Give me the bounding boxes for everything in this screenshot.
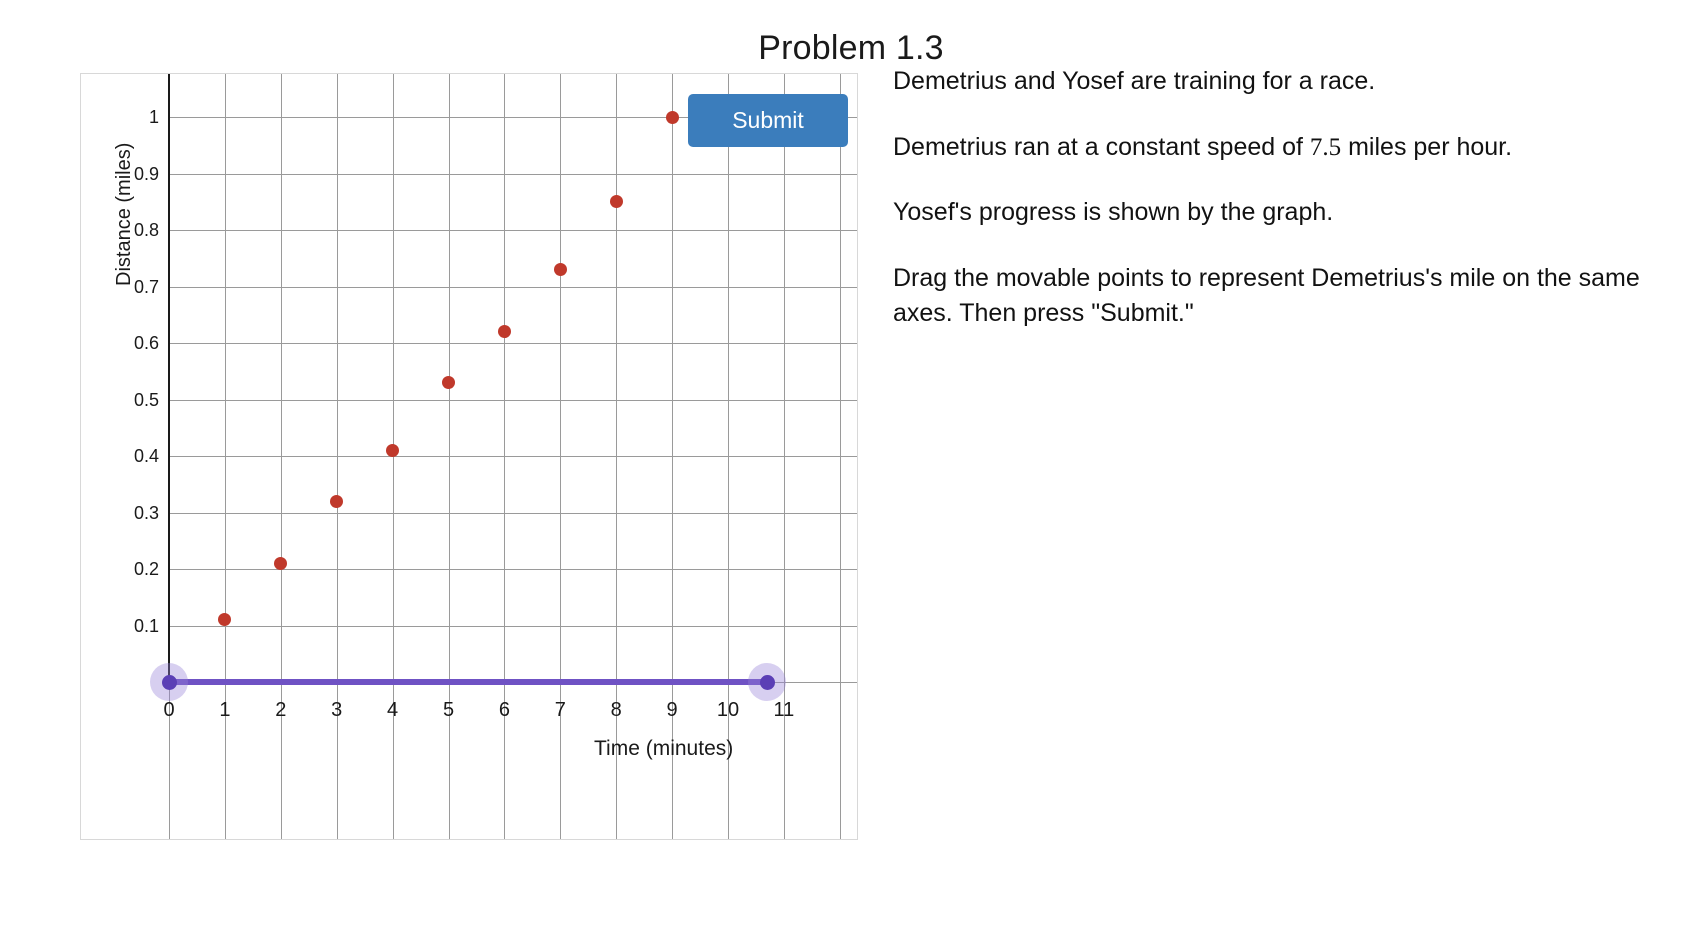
y-tick-label: 0.4 bbox=[99, 447, 159, 465]
prompt-line-3: Yosef's progress is shown by the graph. bbox=[893, 195, 1673, 231]
x-tick-label: 7 bbox=[540, 700, 580, 720]
data-point bbox=[330, 495, 343, 508]
data-point bbox=[218, 613, 231, 626]
x-tick-label: 8 bbox=[596, 700, 636, 720]
submit-button[interactable]: Submit bbox=[688, 94, 848, 147]
plot-area[interactable]: 0.10.20.30.40.50.60.70.80.911.1012345678… bbox=[81, 74, 857, 839]
y-tick-label: 1 bbox=[99, 108, 159, 126]
page-title: Problem 1.3 bbox=[0, 29, 1702, 68]
movable-segment[interactable] bbox=[169, 679, 767, 685]
x-tick-label: 2 bbox=[261, 700, 301, 720]
data-point bbox=[442, 376, 455, 389]
y-tick-label: 0.5 bbox=[99, 391, 159, 409]
y-axis-title: Distance (miles) bbox=[113, 143, 136, 286]
prompt-line-2-before: Demetrius ran at a constant speed of bbox=[893, 133, 1310, 161]
gridline-horizontal bbox=[169, 400, 857, 401]
graph-card: 0.10.20.30.40.50.60.70.80.911.1012345678… bbox=[80, 73, 858, 840]
x-tick-label: 11 bbox=[764, 700, 804, 720]
x-tick-label: 5 bbox=[429, 700, 469, 720]
data-point bbox=[274, 557, 287, 570]
prompt-line-2: Demetrius ran at a constant speed of 7.5… bbox=[893, 130, 1673, 166]
x-tick-label: 3 bbox=[317, 700, 357, 720]
gridline-horizontal bbox=[169, 456, 857, 457]
x-tick-label: 9 bbox=[652, 700, 692, 720]
x-tick-label: 1 bbox=[205, 700, 245, 720]
gridline-horizontal bbox=[169, 569, 857, 570]
y-tick-label: 0.6 bbox=[99, 334, 159, 352]
data-point bbox=[554, 263, 567, 276]
gridline-horizontal bbox=[169, 343, 857, 344]
gridline-horizontal bbox=[169, 287, 857, 288]
y-tick-label: 0.1 bbox=[99, 617, 159, 635]
prompt-line-4: Drag the movable points to represent Dem… bbox=[893, 261, 1673, 332]
x-tick-label: 10 bbox=[708, 700, 748, 720]
gridline-horizontal bbox=[169, 513, 857, 514]
prompt-line-2-after: miles per hour. bbox=[1341, 133, 1512, 161]
movable-point-1[interactable] bbox=[162, 675, 177, 690]
data-point bbox=[666, 111, 679, 124]
gridline-horizontal bbox=[169, 230, 857, 231]
gridline-horizontal bbox=[169, 626, 857, 627]
y-tick-label: 0.3 bbox=[99, 504, 159, 522]
prompt-line-1: Demetrius and Yosef are training for a r… bbox=[893, 64, 1673, 100]
data-point bbox=[498, 325, 511, 338]
y-tick-label: 0.2 bbox=[99, 560, 159, 578]
x-tick-label: 6 bbox=[484, 700, 524, 720]
x-axis-title: Time (minutes) bbox=[594, 737, 733, 761]
data-point bbox=[610, 195, 623, 208]
prompt-panel: Demetrius and Yosef are training for a r… bbox=[893, 64, 1673, 362]
gridline-horizontal bbox=[169, 174, 857, 175]
x-tick-label: 0 bbox=[149, 700, 189, 720]
data-point bbox=[386, 444, 399, 457]
x-tick-label: 4 bbox=[373, 700, 413, 720]
movable-point-2[interactable] bbox=[760, 675, 775, 690]
y-axis-line bbox=[168, 74, 170, 684]
speed-value: 7.5 bbox=[1310, 134, 1341, 161]
